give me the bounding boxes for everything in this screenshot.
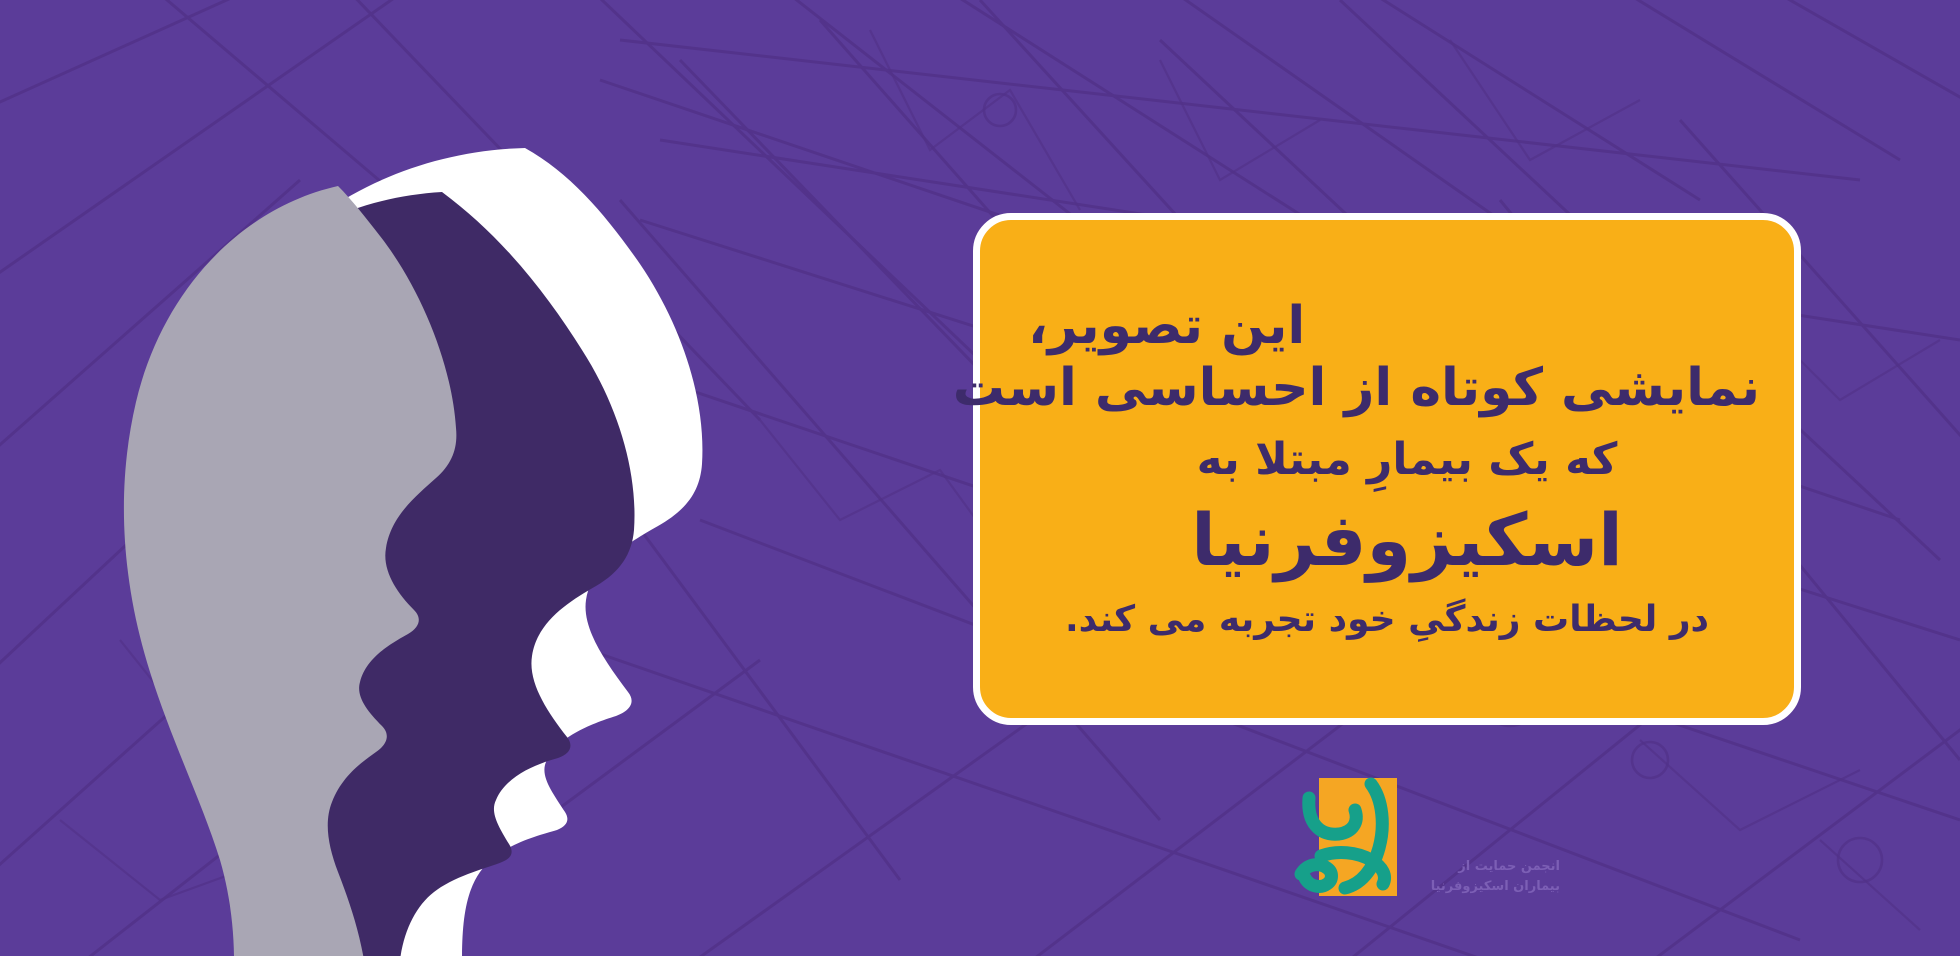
logo-caption-line-1: انجمن حمایت از [1431, 857, 1560, 877]
logo-caption: انجمن حمایت از بیماران اسکیزوفرنیا [1425, 857, 1560, 912]
logo-caption-line-2: بیماران اسکیزوفرنیا [1431, 877, 1560, 897]
logo-glyph-stroke-4 [1301, 865, 1332, 887]
message-line-5: در لحظات زندگیِ خود تجربه می کند. [1014, 599, 1760, 641]
message-line-1: این تصویر، [1014, 296, 1760, 356]
message-line-2: نمایشی کوتاه از احساسی است [1014, 358, 1760, 418]
banner-canvas: این تصویر، نمایشی کوتاه از احساسی است که… [0, 0, 1960, 956]
message-card: این تصویر، نمایشی کوتاه از احساسی است که… [973, 213, 1801, 725]
organization-logo-lockup[interactable]: انجمن حمایت از بیماران اسکیزوفرنیا [1240, 752, 1560, 912]
head-profile-illustration [70, 130, 790, 956]
message-line-4-diagnosis: اسکیزوفرنیا [1014, 499, 1760, 583]
message-line-3: که یک بیمارِ مبتلا به [1014, 434, 1760, 485]
logo-mark-icon [1293, 764, 1425, 912]
